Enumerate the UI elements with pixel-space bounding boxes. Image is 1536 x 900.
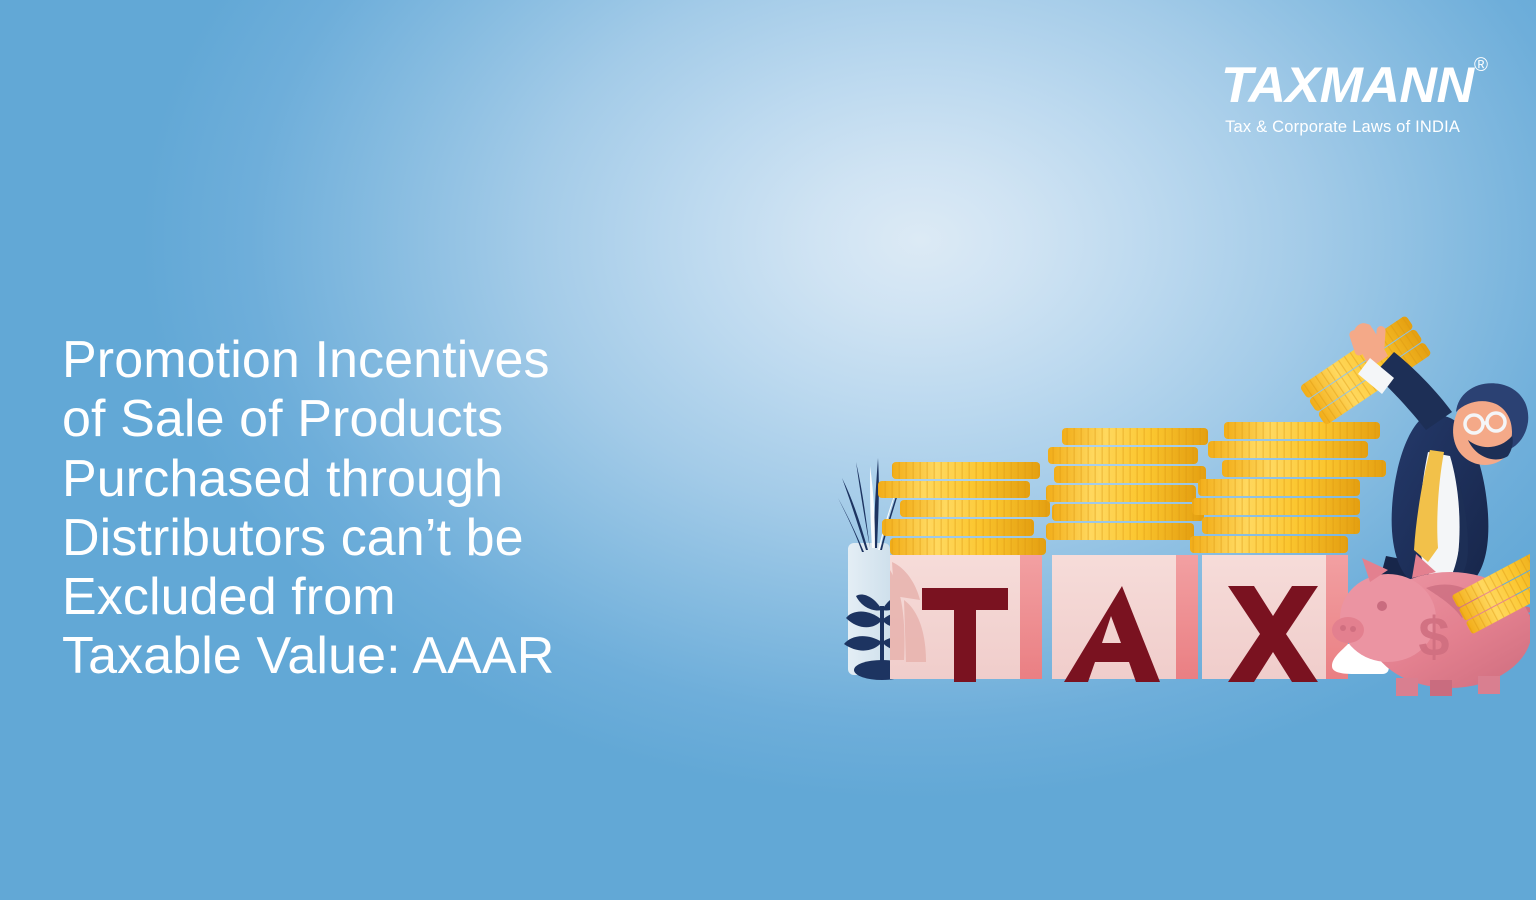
letter-block-a	[1052, 555, 1198, 682]
headline-line-4: Distributors can’t be	[62, 509, 682, 568]
headline-line-5: Excluded from	[62, 568, 682, 627]
registered-trademark-icon: ®	[1474, 56, 1488, 75]
coin-stack-t	[878, 462, 1050, 555]
coin-stack-a	[1046, 428, 1208, 540]
logo-wordmark-row: TAXMANN ®	[1221, 60, 1464, 110]
coin-stack-x	[1190, 422, 1386, 553]
page-title: Promotion Incentives of Sale of Products…	[62, 331, 682, 687]
headline-line-3: Purchased through	[62, 450, 682, 509]
letter-block-t	[890, 555, 1042, 682]
banner-canvas: TAXMANN ® Tax & Corporate Laws of INDIA …	[0, 0, 1536, 900]
dollar-sign-icon: $	[1418, 605, 1449, 668]
logo-tagline: Tax & Corporate Laws of INDIA	[1221, 119, 1464, 136]
headline-line-2: of Sale of Products	[62, 390, 682, 449]
tax-illustration: $	[830, 300, 1530, 720]
headline-line-6: Taxable Value: AAAR	[62, 627, 682, 686]
svg-text:$: $	[1418, 605, 1449, 668]
taxmann-logo: TAXMANN ® Tax & Corporate Laws of INDIA	[1221, 60, 1464, 136]
headline-line-1: Promotion Incentives	[62, 331, 682, 390]
letter-block-x	[1202, 555, 1348, 682]
logo-wordmark: TAXMANN	[1221, 60, 1473, 110]
